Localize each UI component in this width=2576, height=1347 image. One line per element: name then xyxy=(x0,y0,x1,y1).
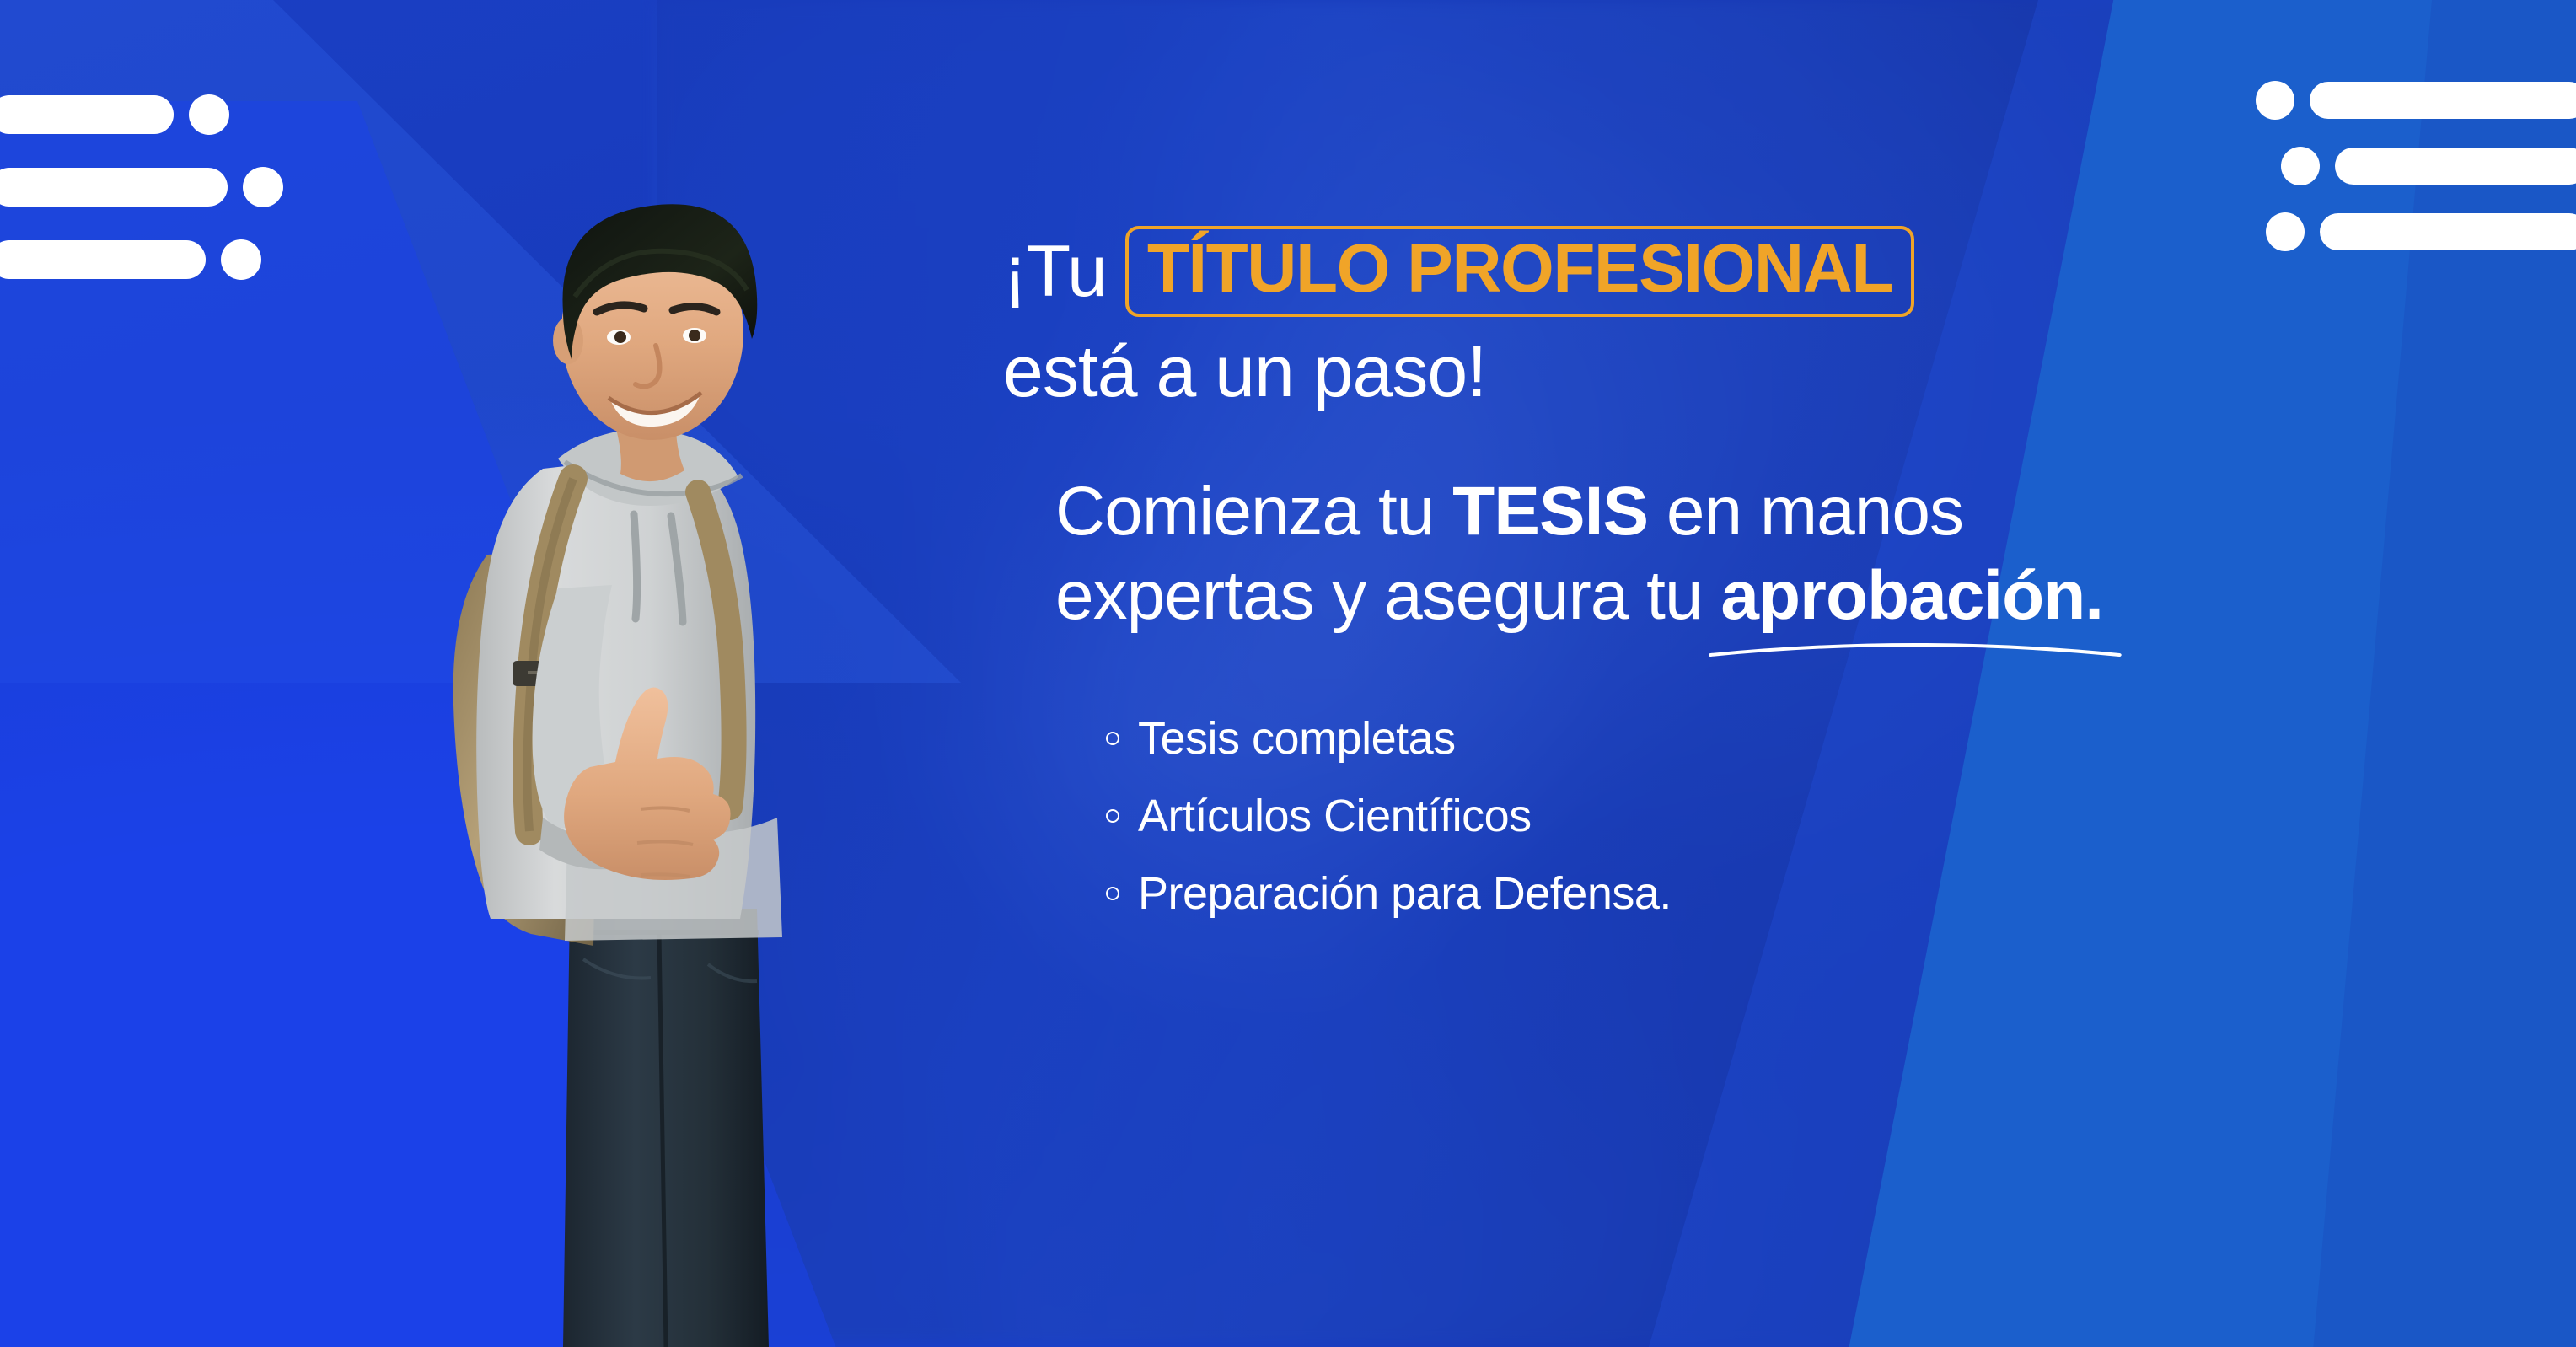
deco-row xyxy=(2266,212,2576,251)
deco-row xyxy=(2256,81,2576,120)
deco-dot xyxy=(189,94,229,135)
deco-dot xyxy=(2281,147,2320,185)
list-item-label: Artículos Científicos xyxy=(1138,790,1532,842)
list-item: Preparación para Defensa. xyxy=(1106,867,2200,920)
headline-line-1: ¡Tu TÍTULO PROFESIONAL xyxy=(1003,226,2200,317)
promo-banner: ¡Tu TÍTULO PROFESIONAL está a un paso! C… xyxy=(0,0,2576,1347)
headline-line-2: está a un paso! xyxy=(1003,330,2200,414)
subheadline-tesis: TESIS xyxy=(1452,473,1648,550)
student-thumbs-up-photo xyxy=(362,83,919,1347)
list-item: Tesis completas xyxy=(1106,712,2200,765)
deco-bar xyxy=(0,240,206,279)
deco-bar xyxy=(2320,213,2576,250)
subheadline-aprobacion: aprobación. xyxy=(1720,557,2103,634)
deco-dot xyxy=(221,239,261,280)
circle-bullet-icon xyxy=(1106,732,1119,745)
bars-and-dots-decoration-right xyxy=(2188,81,2576,275)
service-list: Tesis completas Artículos Científicos Pr… xyxy=(1003,712,2200,920)
deco-dot xyxy=(243,167,283,207)
list-item-label: Tesis completas xyxy=(1138,712,1456,765)
deco-row xyxy=(0,94,229,135)
deco-bar xyxy=(2335,148,2576,185)
deco-bar xyxy=(0,95,174,134)
deco-row xyxy=(0,167,283,207)
deco-bar xyxy=(0,168,228,207)
subheadline: Comienza tu TESIS en manos expertas y as… xyxy=(1003,470,2200,638)
list-item-label: Preparación para Defensa. xyxy=(1138,867,1672,920)
headline-lead: ¡Tu xyxy=(1003,233,1107,311)
list-item: Artículos Científicos xyxy=(1106,790,2200,842)
banner-copy: ¡Tu TÍTULO PROFESIONAL está a un paso! C… xyxy=(1003,226,2200,945)
subheadline-part1: Comienza tu xyxy=(1055,473,1452,550)
deco-bar xyxy=(2310,82,2576,119)
deco-row xyxy=(2281,147,2576,185)
deco-dot xyxy=(2256,81,2294,120)
circle-bullet-icon xyxy=(1106,809,1119,823)
circle-bullet-icon xyxy=(1106,887,1119,900)
titulo-profesional-badge: TÍTULO PROFESIONAL xyxy=(1125,226,1914,317)
curved-underline-icon xyxy=(1709,635,2122,660)
aprobacion-underline-wrap: aprobación. xyxy=(1720,554,2103,638)
deco-row xyxy=(0,239,261,280)
deco-dot xyxy=(2266,212,2305,251)
